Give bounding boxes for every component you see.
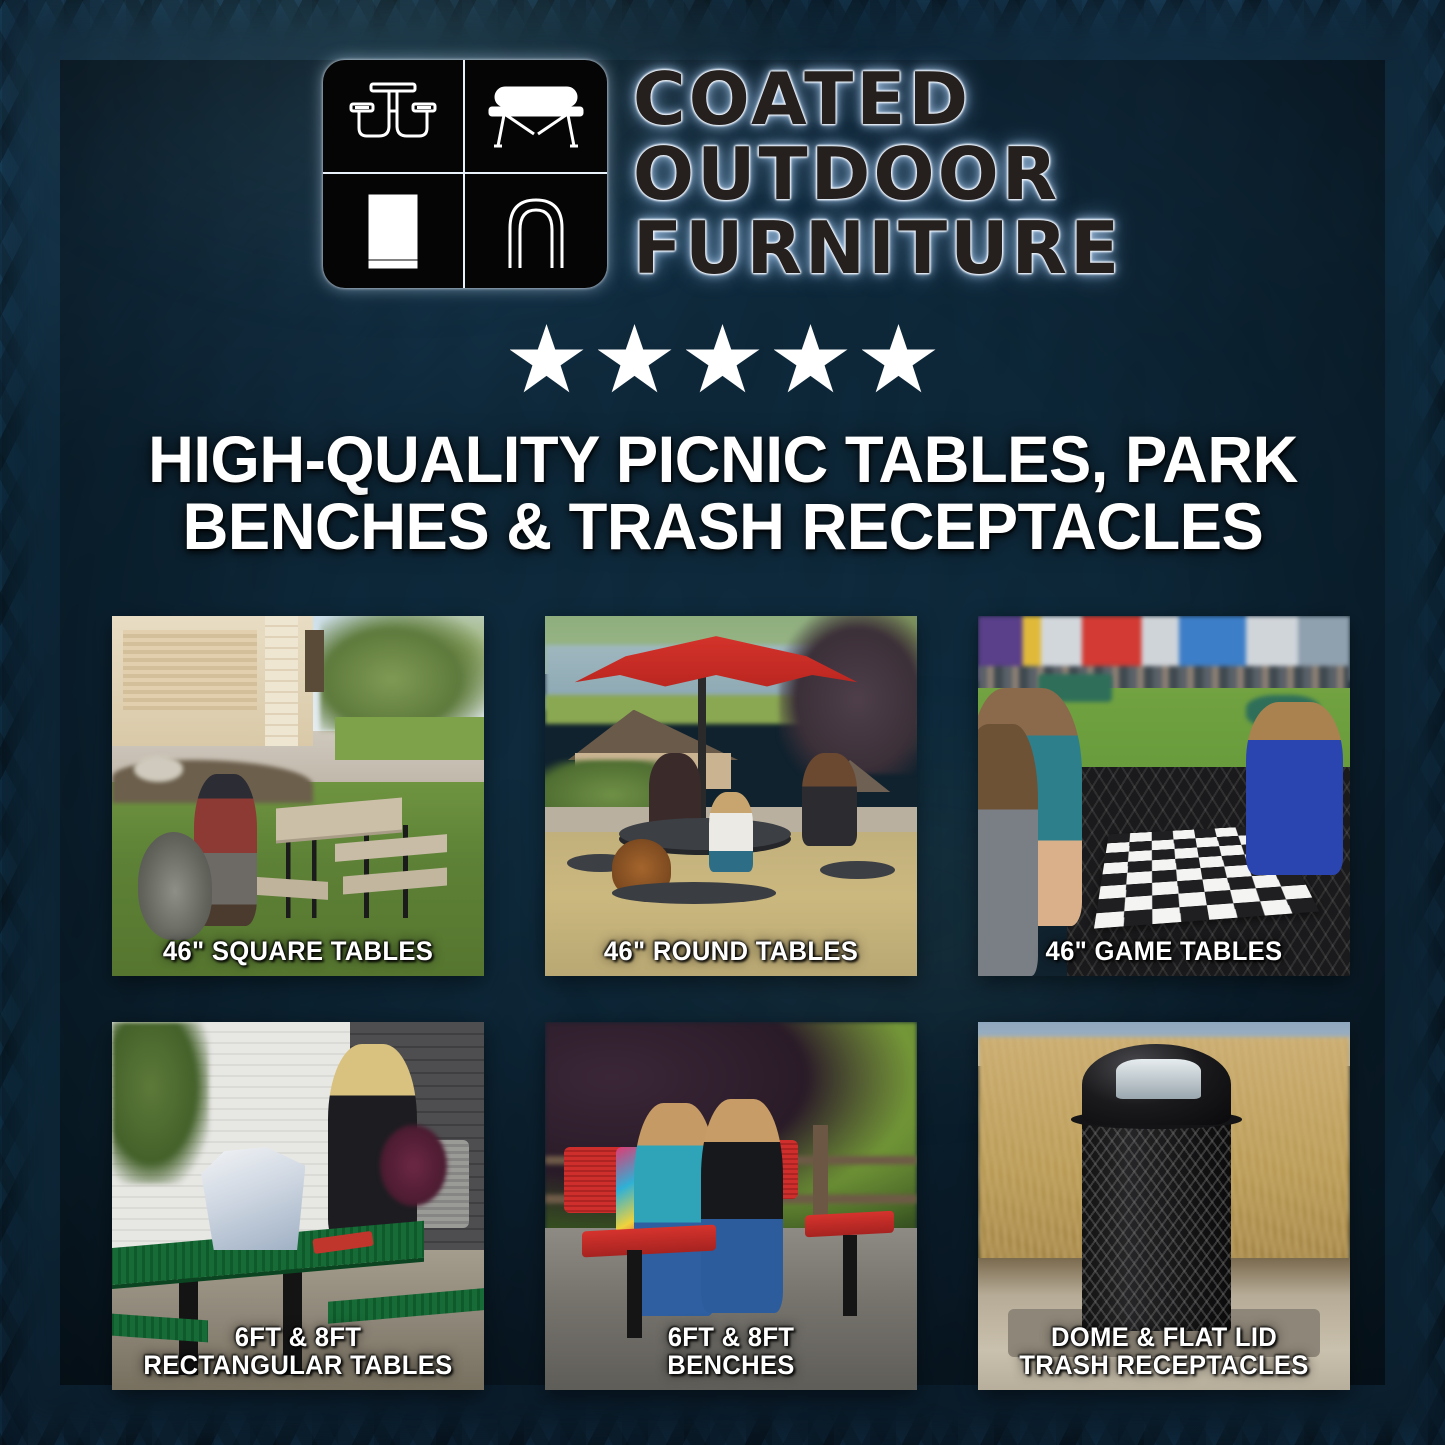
product-label-line-2: TRASH RECEPTACLES: [987, 1351, 1340, 1380]
product-label-game-tables: 46" GAME TABLES: [987, 937, 1340, 966]
trash-receptacle-icon: [323, 174, 465, 288]
coated-outdoor-furniture-logo: [323, 60, 607, 288]
product-label-line-1: 46" SQUARE TABLES: [121, 937, 474, 966]
product-label-line-1: 6FT & 8FT: [554, 1323, 907, 1352]
product-label-line-2: RECTANGULAR TABLES: [121, 1351, 474, 1380]
product-label-benches: 6FT & 8FT BENCHES: [554, 1323, 907, 1380]
product-label-line-1: DOME & FLAT LID: [987, 1323, 1340, 1352]
product-label-line-1: 46" ROUND TABLES: [554, 937, 907, 966]
product-label-line-1: 6FT & 8FT: [121, 1323, 474, 1352]
picnic-table-icon: [323, 60, 465, 174]
bike-rack-arch-icon: [465, 174, 607, 288]
brand-name: COATED OUTDOOR FURNITURE: [633, 66, 1122, 283]
poster-header: COATED OUTDOOR FURNITURE HIGH-QUALITY PI…: [0, 0, 1445, 561]
advertisement-poster: COATED OUTDOOR FURNITURE HIGH-QUALITY PI…: [0, 0, 1445, 1445]
star-icon: [774, 324, 848, 396]
brand-name-line-1: COATED: [633, 66, 1122, 133]
product-photo-game-tables: [978, 616, 1350, 976]
star-icon: [510, 324, 584, 396]
product-tile-game-tables[interactable]: 46" GAME TABLES: [978, 616, 1350, 976]
product-grid: 46" SQUARE TABLES: [112, 616, 1334, 1390]
park-bench-icon: [465, 60, 607, 174]
product-photo-square-tables: [112, 616, 484, 976]
product-tile-rectangular-tables[interactable]: 6FT & 8FT RECTANGULAR TABLES: [112, 1022, 484, 1390]
product-tile-square-tables[interactable]: 46" SQUARE TABLES: [112, 616, 484, 976]
brand-name-line-2: OUTDOOR: [633, 141, 1122, 208]
star-icon: [598, 324, 672, 396]
product-photo-round-tables: [545, 616, 917, 976]
brand-lockup: COATED OUTDOOR FURNITURE: [0, 0, 1445, 288]
headline-line-1: HIGH-QUALITY PICNIC TABLES, PARK: [118, 426, 1328, 493]
product-label-round-tables: 46" ROUND TABLES: [554, 937, 907, 966]
product-label-square-tables: 46" SQUARE TABLES: [121, 937, 474, 966]
product-label-line-2: BENCHES: [554, 1351, 907, 1380]
star-icon: [686, 324, 760, 396]
brand-name-line-3: FURNITURE: [633, 215, 1122, 282]
product-label-line-1: 46" GAME TABLES: [987, 937, 1340, 966]
star-icon: [862, 324, 936, 396]
star-rating: [0, 324, 1445, 396]
page-headline: HIGH-QUALITY PICNIC TABLES, PARK BENCHES…: [118, 426, 1328, 561]
product-tile-trash-receptacles[interactable]: DOME & FLAT LID TRASH RECEPTACLES: [978, 1022, 1350, 1390]
product-label-trash-receptacles: DOME & FLAT LID TRASH RECEPTACLES: [987, 1323, 1340, 1380]
headline-line-2: BENCHES & TRASH RECEPTACLES: [118, 493, 1328, 560]
product-label-rectangular-tables: 6FT & 8FT RECTANGULAR TABLES: [121, 1323, 474, 1380]
product-tile-benches[interactable]: 6FT & 8FT BENCHES: [545, 1022, 917, 1390]
product-tile-round-tables[interactable]: 46" ROUND TABLES: [545, 616, 917, 976]
